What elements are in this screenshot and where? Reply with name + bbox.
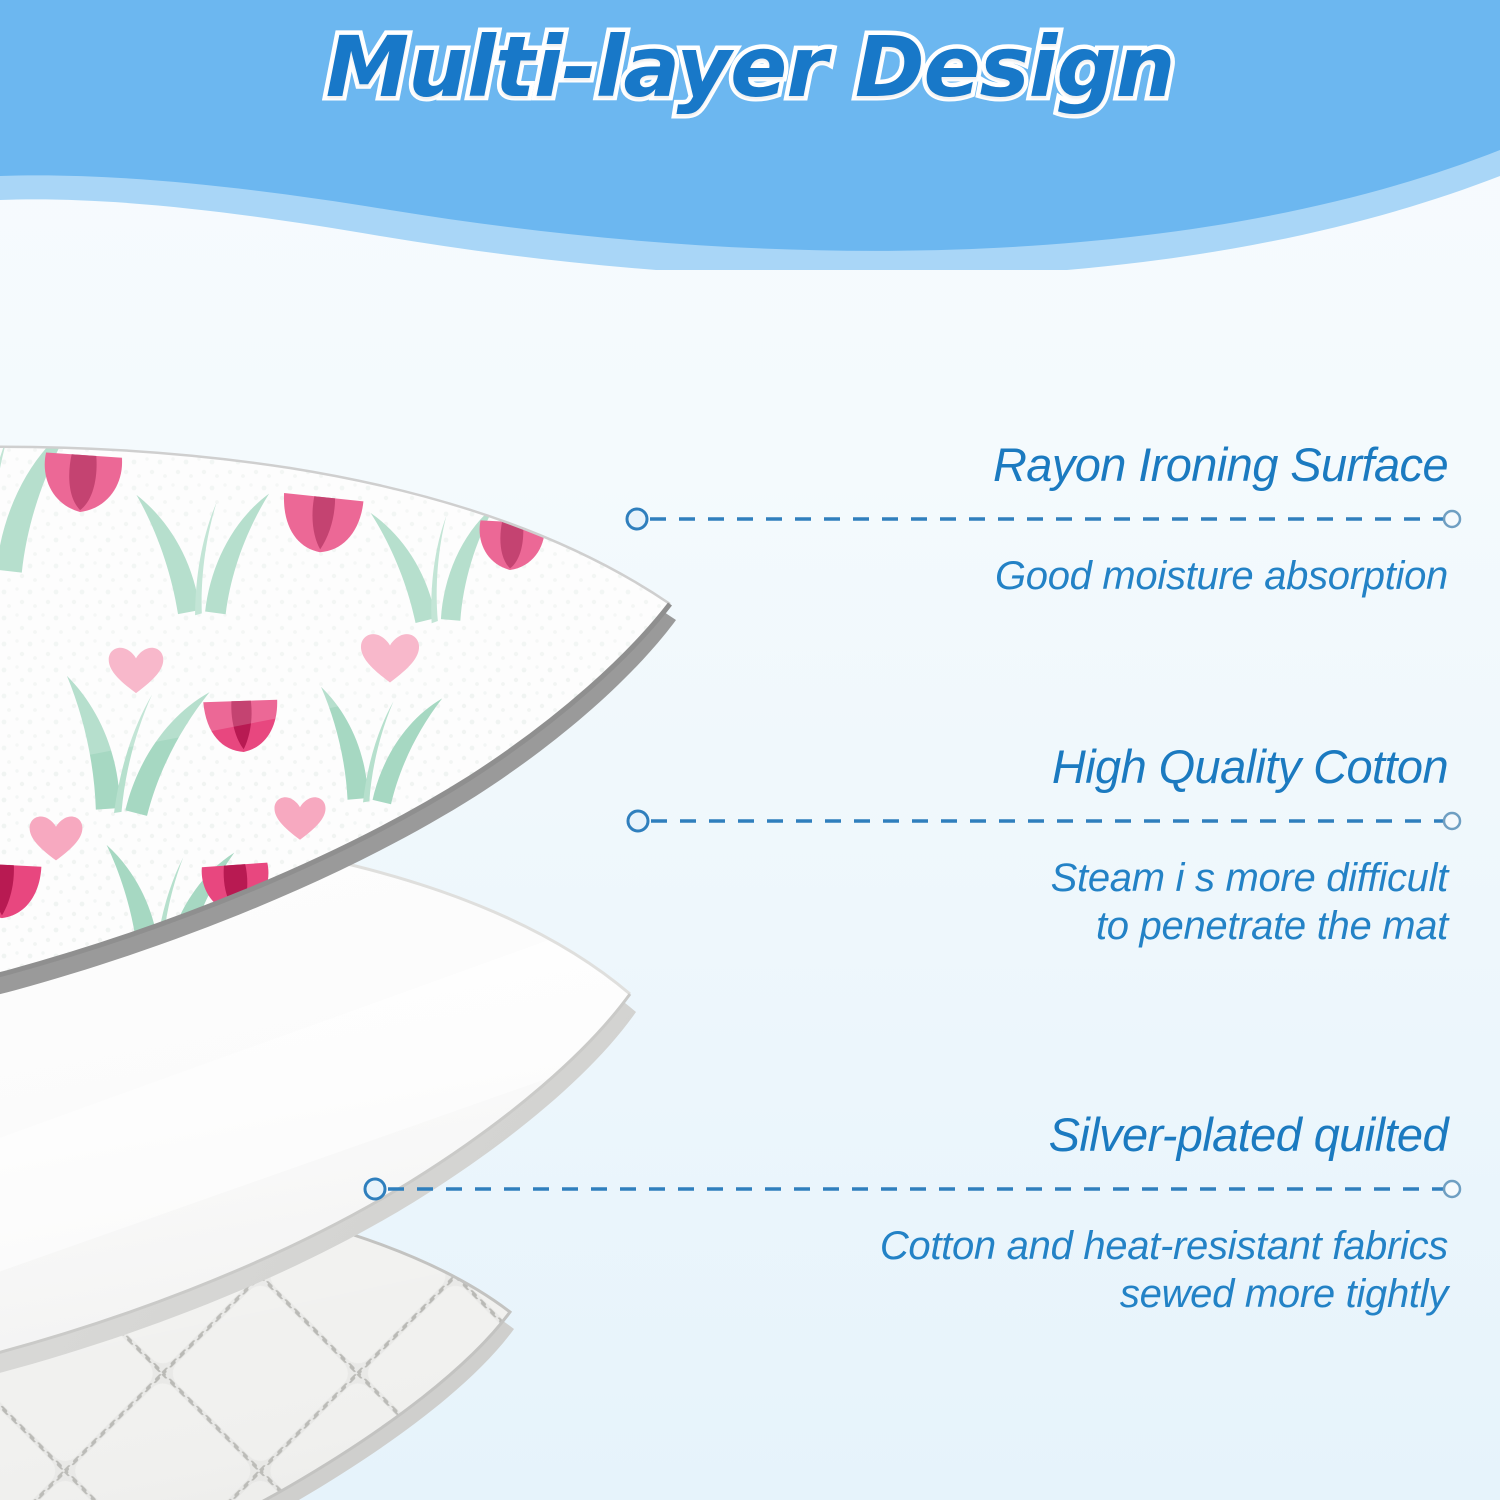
callout-rayon-title: Rayon Ironing Surface <box>700 440 1448 490</box>
callout-quilted-subline-2: sewed more tightly <box>640 1270 1448 1318</box>
callout-cotton-subline-2: to penetrate the mat <box>700 902 1448 950</box>
callout-quilted-subline-1: Cotton and heat-resistant fabrics <box>640 1222 1448 1270</box>
callout-rayon-subtext: Good moisture absorption <box>700 552 1448 600</box>
callout-quilted-sub: Cotton and heat-resistant fabrics sewed … <box>640 1206 1460 1318</box>
callout-cotton-subline-1: Steam i s more difficult <box>700 854 1448 902</box>
callout-cotton-title: High Quality Cotton <box>700 742 1448 792</box>
circle-end-marker-icon <box>1444 1181 1460 1197</box>
callout-cotton-sub: Steam i s more difficult to penetrate th… <box>700 838 1460 950</box>
callout-cotton-subtext: Steam i s more difficult to penetrate th… <box>700 854 1448 950</box>
infographic-canvas: Multi-layer Design <box>0 0 1500 1500</box>
header-wave-graphic <box>0 0 1500 270</box>
callout-quilted-subtext: Cotton and heat-resistant fabrics sewed … <box>640 1222 1448 1318</box>
callout-rayon-sub: Good moisture absorption <box>700 536 1460 600</box>
callout-cotton: High Quality Cotton <box>700 742 1460 792</box>
callout-rayon-subline-1: Good moisture absorption <box>700 552 1448 600</box>
callout-quilted-title: Silver-plated quilted <box>640 1110 1448 1160</box>
callout-quilted: Silver-plated quilted <box>640 1110 1460 1160</box>
header-band: Multi-layer Design <box>0 0 1500 270</box>
callout-rayon: Rayon Ironing Surface <box>700 440 1460 490</box>
circle-end-marker-icon <box>1444 813 1460 829</box>
header-wave-main <box>0 0 1500 251</box>
circle-end-marker-icon <box>1444 511 1460 527</box>
